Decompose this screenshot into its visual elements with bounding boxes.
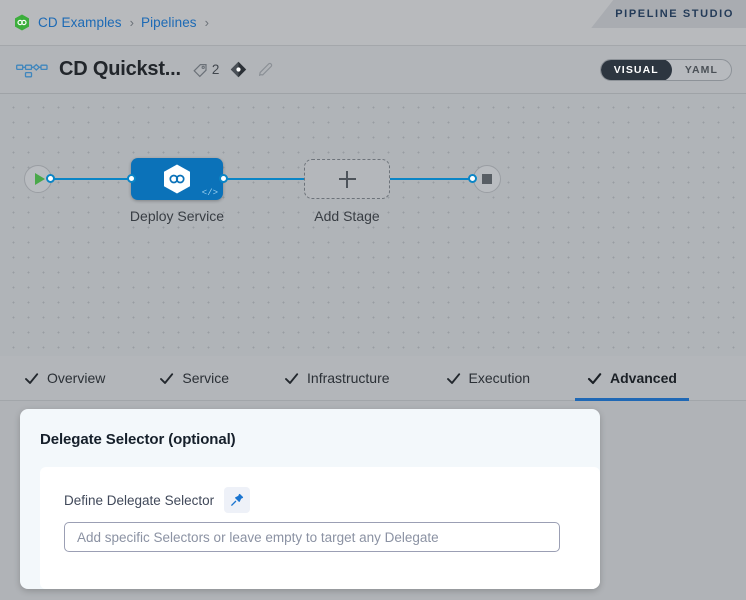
wire-stage-to-add (224, 178, 304, 180)
breadcrumb-separator: › (130, 15, 134, 30)
stage-node-deploy-service[interactable]: </> (131, 158, 223, 200)
tab-execution[interactable]: Execution (442, 356, 534, 401)
plus-icon (339, 171, 356, 188)
breadcrumb-item-pipelines[interactable]: Pipelines (141, 15, 197, 30)
wire-start-to-stage (50, 178, 135, 180)
view-mode-toggle[interactable]: VISUAL YAML (600, 59, 732, 81)
pipeline-diagram-icon (16, 60, 48, 80)
harness-hexagon-icon (162, 163, 192, 195)
toggle-option-yaml[interactable]: YAML (672, 59, 731, 81)
port-end-in[interactable] (468, 174, 477, 183)
pipeline-studio-app: CD Examples › Pipelines › PIPELINE STUDI… (0, 0, 746, 600)
tab-label-infrastructure: Infrastructure (307, 370, 389, 386)
tab-service[interactable]: Service (155, 356, 233, 401)
stage-tab-bar: Overview Service Infrastructure Executio… (0, 356, 746, 401)
panel-title: Delegate Selector (optional) (40, 431, 236, 448)
tab-label-execution: Execution (469, 370, 530, 386)
git-diamond-icon[interactable] (230, 61, 247, 78)
add-stage-node[interactable] (304, 159, 390, 199)
breadcrumb-item-cd-examples[interactable]: CD Examples (38, 15, 122, 30)
tab-infrastructure[interactable]: Infrastructure (280, 356, 393, 401)
pipeline-studio-banner: PIPELINE STUDIO (591, 0, 746, 28)
port-start-out[interactable] (46, 174, 55, 183)
wire-add-to-end (390, 178, 475, 180)
delegate-selector-card: Define Delegate Selector (40, 467, 600, 589)
check-icon (446, 371, 461, 386)
harness-hexagon-logo-icon (14, 14, 30, 31)
tag-icon (192, 62, 208, 78)
stage-label-deploy-service: Deploy Service (111, 208, 243, 224)
tag-group[interactable]: 2 (192, 62, 220, 78)
pipeline-studio-label: PIPELINE STUDIO (615, 8, 734, 20)
pushpin-icon (230, 493, 244, 507)
define-delegate-selector-label: Define Delegate Selector (64, 493, 214, 508)
pushpin-button[interactable] (224, 487, 250, 513)
end-node[interactable] (473, 165, 501, 193)
define-delegate-selector-row: Define Delegate Selector (64, 487, 250, 513)
tab-label-service: Service (182, 370, 229, 386)
pipeline-title-bar: CD Quickst... 2 VISUAL YAML (0, 46, 746, 94)
port-stage-in[interactable] (127, 174, 136, 183)
check-icon (159, 371, 174, 386)
check-icon (587, 371, 602, 386)
delegate-selector-input[interactable] (64, 522, 560, 552)
tag-count: 2 (212, 62, 220, 77)
delegate-selector-panel: Delegate Selector (optional) Define Dele… (20, 409, 600, 589)
tab-label-advanced: Advanced (610, 370, 677, 386)
add-stage-label: Add Stage (288, 208, 406, 224)
breadcrumb-bar: CD Examples › Pipelines › PIPELINE STUDI… (0, 0, 746, 46)
pipeline-canvas[interactable]: </> Deploy Service Add Stage (0, 94, 746, 356)
pencil-edit-icon[interactable] (257, 61, 274, 78)
tab-advanced[interactable]: Advanced (575, 356, 689, 401)
check-icon (284, 371, 299, 386)
tab-overview[interactable]: Overview (20, 356, 109, 401)
toggle-option-visual[interactable]: VISUAL (601, 59, 672, 81)
port-stage-out[interactable] (219, 174, 228, 183)
check-icon (24, 371, 39, 386)
tab-label-overview: Overview (47, 370, 105, 386)
breadcrumb-separator-2: › (205, 15, 209, 30)
stage-code-badge: </> (202, 188, 218, 198)
play-icon (35, 173, 45, 185)
stop-square-icon (482, 174, 492, 184)
page-title: CD Quickst... (59, 58, 181, 81)
